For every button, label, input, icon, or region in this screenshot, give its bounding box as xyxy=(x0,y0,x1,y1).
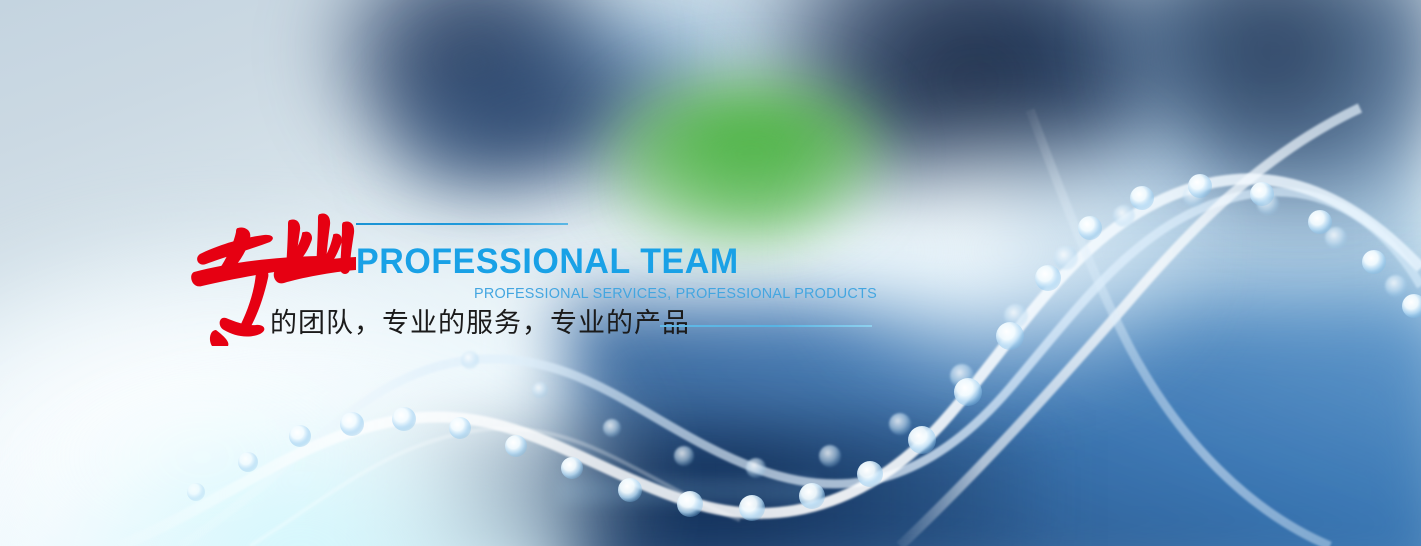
hero-banner: PROFESSIONAL TEAM PROFESSIONAL SERVICES,… xyxy=(0,0,1421,546)
banner-content: PROFESSIONAL TEAM PROFESSIONAL SERVICES,… xyxy=(0,0,1421,546)
decorative-rule-bottom xyxy=(660,325,872,327)
chinese-tagline: 的团队，专业的服务，专业的产品 xyxy=(270,307,690,341)
page-subtitle: PROFESSIONAL SERVICES, PROFESSIONAL PROD… xyxy=(474,285,877,303)
decorative-rule-top xyxy=(356,223,568,225)
page-title: PROFESSIONAL TEAM xyxy=(356,243,739,281)
